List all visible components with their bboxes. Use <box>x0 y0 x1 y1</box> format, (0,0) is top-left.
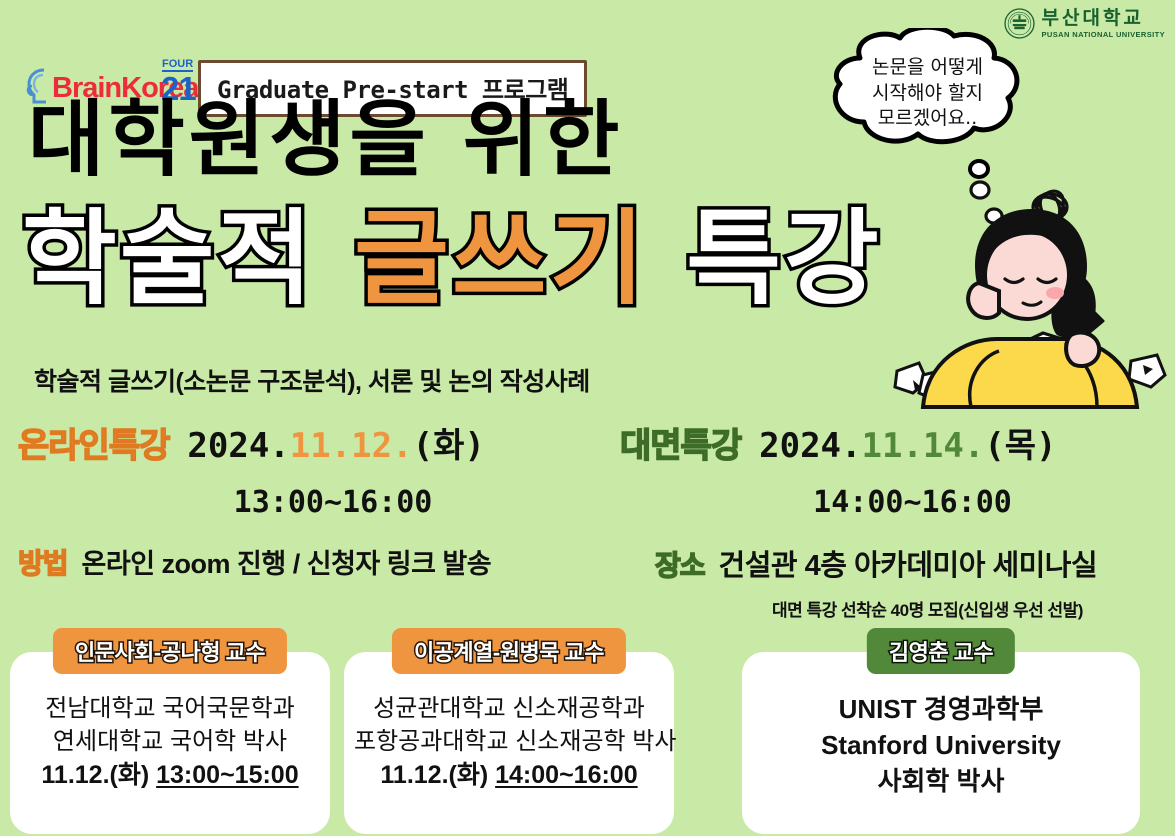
speaker-badge-label: 이공계열-원병묵 교수 <box>414 640 604 665</box>
online-method-value: 온라인 zoom 진행 / 신청자 링크 발송 <box>82 542 492 581</box>
offline-capacity-note: 대면 특강 선착순 40명 모집(신입생 우선 선발) <box>620 596 1165 621</box>
student-illustration <box>875 175 1175 410</box>
speaker-card: 인문사회-공나형 교수 전남대학교 국어국문학과 연세대학교 국어학 박사 11… <box>10 652 330 834</box>
online-tag: 온라인특강 <box>18 418 169 467</box>
offline-date-day: (목) <box>984 426 1056 466</box>
university-name-kr: 부산대학교 <box>1042 9 1165 28</box>
speaker-badge: 이공계열-원병묵 교수 <box>392 628 626 674</box>
speaker-schedule: 11.12.(화) 14:00~16:00 <box>354 758 664 793</box>
speaker-schedule-time: 14:00~16:00 <box>495 761 637 789</box>
speaker-badge-label: 김영춘 교수 <box>889 640 993 665</box>
page-subtitle: 학술적 글쓰기(소논문 구조분석), 서론 및 논의 작성사례 <box>34 362 590 398</box>
speaker-card: 김영춘 교수 UNIST 경영과학부 Stanford University 사… <box>742 652 1140 834</box>
university-name-block: 부산대학교 PUSAN NATIONAL UNIVERSITY <box>1042 9 1165 39</box>
speaker-affiliation-2: 포항공과대학교 신소재공학 박사 <box>354 725 664 758</box>
speaker-affiliation-1: 전남대학교 국어국문학과 <box>20 692 320 725</box>
speaker-affiliation-1: UNIST 경영과학부 <box>752 692 1130 728</box>
speaker-affiliation-2: 연세대학교 국어학 박사 <box>20 725 320 758</box>
speaker-schedule-date: 11.12.(화) <box>380 761 495 789</box>
speaker-badge-label: 인문사회-공나형 교수 <box>75 640 265 665</box>
thought-line-1: 논문을 어떻게 <box>845 55 1010 81</box>
title-line2-part1: 학술적 <box>22 199 354 319</box>
online-date-md: 11.12. <box>290 426 413 466</box>
thought-line-3: 모르겠어요.. <box>845 106 1010 132</box>
session-info-block: 온라인특강 2024.11.12.(화) 13:00~16:00 방법 온라인 … <box>0 418 1175 618</box>
speaker-schedule: 11.12.(화) 13:00~15:00 <box>20 758 320 793</box>
online-date-year: 2024. <box>187 426 289 466</box>
offline-tag: 대면특강 <box>620 418 741 467</box>
poster-root: BrainKorea FOUR 21 Graduate Pre-start 프로… <box>0 0 1175 836</box>
speaker-cards: 인문사회-공나형 교수 전남대학교 국어국문학과 연세대학교 국어학 박사 11… <box>0 640 1175 836</box>
speaker-affiliation-2: Stanford University <box>752 728 1130 764</box>
offline-place-tag: 장소 <box>655 544 705 584</box>
title-line2-highlight: 글쓰기 <box>354 199 647 319</box>
offline-place-row: 장소 건설관 4층 아카데미아 세미나실 <box>620 542 1165 584</box>
speaker-badge: 김영춘 교수 <box>867 628 1015 674</box>
speaker-schedule-date: 11.12.(화) <box>41 761 156 789</box>
offline-time: 14:00~16:00 <box>620 485 1165 520</box>
session-online: 온라인특강 2024.11.12.(화) 13:00~16:00 방법 온라인 … <box>18 418 588 582</box>
offline-date-year: 2024. <box>759 426 861 466</box>
online-date: 2024.11.12.(화) <box>187 418 484 467</box>
session-offline: 대면특강 2024.11.14.(목) 14:00~16:00 장소 건설관 4… <box>620 418 1165 621</box>
offline-date: 2024.11.14.(목) <box>759 418 1056 467</box>
page-title-line2: 학술적 글쓰기 특강 <box>22 208 882 311</box>
thought-bubble-text: 논문을 어떻게 시작해야 할지 모르겠어요.. <box>845 55 1010 132</box>
online-time: 13:00~16:00 <box>18 485 588 520</box>
offline-date-md: 11.14. <box>861 426 984 466</box>
speaker-affiliation-1: 성균관대학교 신소재공학과 <box>354 692 664 725</box>
speaker-schedule-time: 13:00~15:00 <box>156 761 298 789</box>
speaker-card: 이공계열-원병묵 교수 성균관대학교 신소재공학과 포항공과대학교 신소재공학 … <box>344 652 674 834</box>
page-title-line1: 대학원생을 위한 <box>28 98 623 181</box>
online-method-tag: 방법 <box>18 542 68 582</box>
university-name-en: PUSAN NATIONAL UNIVERSITY <box>1042 31 1165 39</box>
offline-place-value: 건설관 4층 아카데미아 세미나실 <box>719 542 1098 584</box>
online-date-day: (화) <box>413 426 485 466</box>
speaker-badge: 인문사회-공나형 교수 <box>53 628 287 674</box>
thought-line-2: 시작해야 할지 <box>845 81 1010 107</box>
online-header-row: 온라인특강 2024.11.12.(화) <box>18 418 588 467</box>
speaker-affiliation-3: 사회학 박사 <box>752 764 1130 800</box>
title-line2-part3: 특강 <box>647 199 881 319</box>
online-method-row: 방법 온라인 zoom 진행 / 신청자 링크 발송 <box>18 542 588 582</box>
offline-header-row: 대면특강 2024.11.14.(목) <box>620 418 1165 467</box>
